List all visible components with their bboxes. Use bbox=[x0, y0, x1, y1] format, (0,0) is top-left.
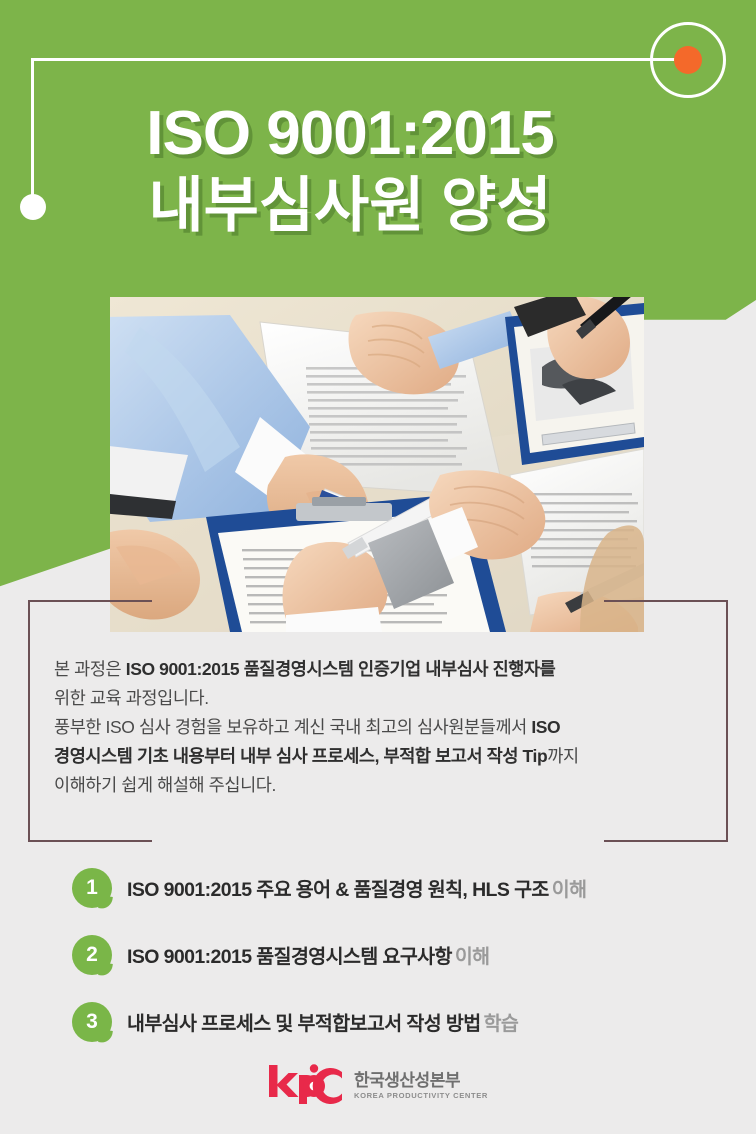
title-line-1: ISO 9001:2015 bbox=[0, 98, 700, 170]
curriculum-list: 1 ISO 9001:2015 주요 용어 & 품질경영 원칙, HLS 구조이… bbox=[72, 866, 712, 1067]
badge-number: 2 bbox=[72, 935, 112, 975]
description-seg-bold: ISO 9001:2015 품질경영시스템 인증기업 내부심사 진행자를 bbox=[126, 659, 556, 679]
list-item-main: 내부심사 프로세스 및 부적합보고서 작성 방법 bbox=[127, 1013, 481, 1035]
audit-meeting-photo bbox=[110, 297, 644, 632]
bracket-bottom-left bbox=[28, 840, 152, 842]
number-badge-icon: 1 bbox=[72, 868, 112, 908]
list-item-main: ISO 9001:2015 주요 용어 & 품질경영 원칙, HLS 구조 bbox=[127, 879, 549, 901]
target-ring-icon bbox=[650, 22, 726, 98]
description-line: 위한 교육 과정입니다. bbox=[54, 684, 702, 713]
badge-number: 3 bbox=[72, 1002, 112, 1042]
kpc-logo: 한국생산성본부 KOREA PRODUCTIVITY CENTER bbox=[0, 1064, 756, 1104]
list-item: 1 ISO 9001:2015 주요 용어 & 품질경영 원칙, HLS 구조이… bbox=[72, 866, 712, 924]
bracket-right bbox=[726, 600, 728, 842]
badge-number: 1 bbox=[72, 868, 112, 908]
list-item-suffix: 이해 bbox=[552, 879, 587, 901]
logo-english-name: KOREA PRODUCTIVITY CENTER bbox=[354, 1090, 488, 1101]
description-seg: 풍부한 ISO 심사 경험을 보유하고 계신 국내 최고의 심사원분들께서 bbox=[54, 717, 531, 737]
bracket-top-left bbox=[28, 600, 152, 602]
target-ring-core-icon bbox=[674, 46, 702, 74]
list-item: 3 내부심사 프로세스 및 부적합보고서 작성 방법학습 bbox=[72, 1000, 712, 1058]
logo-korean-name: 한국생산성본부 bbox=[354, 1071, 488, 1090]
list-item-text: ISO 9001:2015 품질경영시스템 요구사항이해 bbox=[127, 940, 490, 969]
description-line: 풍부한 ISO 심사 경험을 보유하고 계신 국내 최고의 심사원분들께서 IS… bbox=[54, 713, 702, 742]
title-line-2: 내부심사원 양성 bbox=[0, 170, 700, 242]
corner-line-icon bbox=[31, 58, 681, 61]
bracket-left bbox=[28, 600, 30, 842]
description-seg-bold: ISO bbox=[531, 717, 560, 737]
poster-root: ISO 9001:2015 내부심사원 양성 bbox=[0, 0, 756, 1134]
description-seg: 이해하기 쉽게 해설해 주십니다. bbox=[54, 775, 276, 795]
list-item-suffix: 학습 bbox=[484, 1013, 519, 1035]
kpc-wordmark-icon bbox=[268, 1064, 344, 1104]
description-seg: 위한 교육 과정입니다. bbox=[54, 688, 209, 708]
list-item-text: 내부심사 프로세스 및 부적합보고서 작성 방법학습 bbox=[127, 1007, 518, 1036]
description-seg: 까지 bbox=[547, 746, 578, 766]
page-title: ISO 9001:2015 내부심사원 양성 bbox=[0, 98, 700, 242]
list-item-main: ISO 9001:2015 품질경영시스템 요구사항 bbox=[127, 946, 452, 968]
description-line: 경영시스템 기초 내용부터 내부 심사 프로세스, 부적합 보고서 작성 Tip… bbox=[54, 742, 702, 771]
list-item: 2 ISO 9001:2015 품질경영시스템 요구사항이해 bbox=[72, 933, 712, 991]
description-seg: 본 과정은 bbox=[54, 659, 126, 679]
bracket-bottom-right bbox=[604, 840, 728, 842]
number-badge-icon: 3 bbox=[72, 1002, 112, 1042]
description-seg-bold: 경영시스템 기초 내용부터 내부 심사 프로세스, 부적합 보고서 작성 Tip bbox=[54, 746, 547, 766]
list-item-suffix: 이해 bbox=[455, 946, 490, 968]
description-line: 이해하기 쉽게 해설해 주십니다. bbox=[54, 771, 702, 800]
course-description: 본 과정은 ISO 9001:2015 품질경영시스템 인증기업 내부심사 진행… bbox=[54, 655, 702, 800]
list-item-text: ISO 9001:2015 주요 용어 & 품질경영 원칙, HLS 구조이해 bbox=[127, 873, 586, 902]
number-badge-icon: 2 bbox=[72, 935, 112, 975]
description-line: 본 과정은 ISO 9001:2015 품질경영시스템 인증기업 내부심사 진행… bbox=[54, 655, 702, 684]
bracket-top-right bbox=[604, 600, 728, 602]
